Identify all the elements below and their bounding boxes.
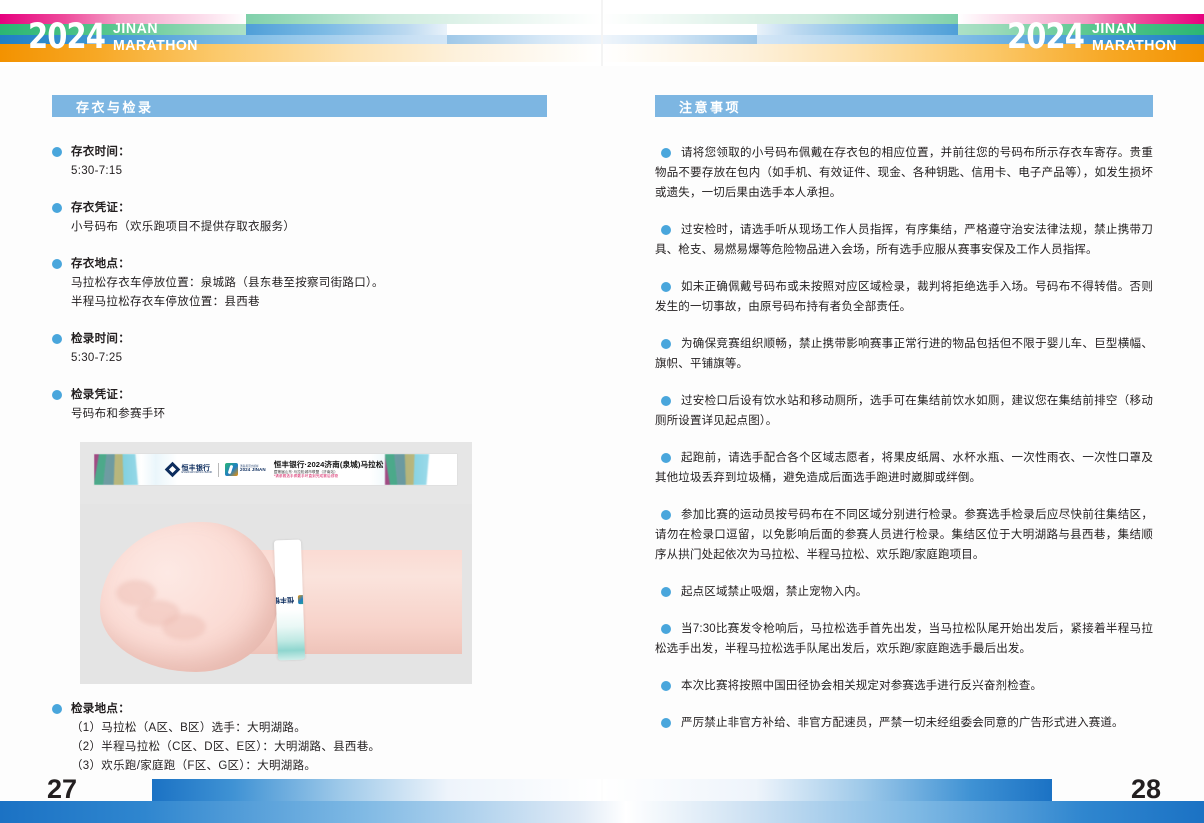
worn-wristband: 2024 JINAN 恒丰银行	[274, 540, 305, 661]
list-item: 存衣时间： 5:30-7:15	[52, 143, 547, 181]
list-item-body: 检录凭证： 号码布和参赛手环	[71, 386, 165, 424]
list-item-heading: 检录时间：	[71, 330, 130, 349]
bullet-dot-icon	[52, 147, 62, 157]
list-item-heading: 存衣时间：	[71, 143, 130, 162]
list-item: 检录凭证： 号码布和参赛手环	[52, 386, 547, 424]
banner-strip-green-left-upper	[246, 14, 602, 24]
list-item: 检录地点： （1）马拉松（A区、B区）选手：大明湖路。 （2）半程马拉松（C区、…	[52, 700, 547, 776]
logo-event-right: MARATHON	[1092, 37, 1177, 54]
notice-text: 本次比赛将按照中国田径协会相关规定对参赛选手进行反兴奋剂检查。	[655, 676, 1153, 696]
bullet-dot-icon	[52, 259, 62, 269]
list-item-line: 半程马拉松存衣车停放位置：县西巷	[71, 293, 384, 312]
notice-text: 过安检时，请选手听从现场工作人员指挥，有序集结，严格遵守治安法律法规，禁止携带刀…	[655, 220, 1153, 260]
event-emblem: 济南黄河大桥杯 2024 JINAN	[225, 463, 266, 476]
emblem-line-2: 2024 JINAN	[240, 468, 266, 473]
bullet-dot-icon	[661, 718, 671, 728]
bullet-dot-icon	[661, 282, 671, 292]
notice-text: 当7:30比赛发令枪响后，马拉松选手首先出发，当马拉松队尾开始出发后，紧接着半程…	[655, 619, 1153, 659]
knuckles	[114, 574, 234, 640]
notice-paragraph: 起跑前，请选手配合各个区域志愿者，将果皮纸屑、水杯水瓶、一次性雨衣、一次性口罩及…	[655, 448, 1153, 488]
list-item-body: 检录时间： 5:30-7:25	[71, 330, 130, 368]
list-item-line: 号码布和参赛手环	[71, 405, 165, 424]
bullet-dot-icon	[52, 203, 62, 213]
notice-text: 请将您领取的小号码布佩戴在存衣包的相应位置，并前往您的号码布所示存衣车寄存。贵重…	[655, 143, 1153, 203]
list-item: 存衣凭证： 小号码布（欢乐跑项目不提供存取衣服务）	[52, 199, 547, 237]
top-banner: 2024 JINAN MARATHON 2024 JINAN MARATHON	[0, 0, 1204, 66]
notice-paragraph: 如未正确佩戴号码布或未按照对应区域检录，裁判将拒绝选手入场。号码布不得转借。否则…	[655, 277, 1153, 317]
logo-year-left: 2024	[28, 20, 105, 55]
logo-year-right: 2024	[1007, 20, 1084, 55]
list-item-body: 存衣地点： 马拉松存衣车停放位置：泉城路（县东巷至按察司街路口）。 半程马拉松存…	[71, 255, 384, 312]
logo-city-right: JINAN	[1092, 21, 1177, 37]
bullet-dot-icon	[661, 510, 671, 520]
bank-diamond-icon	[165, 462, 181, 478]
notice-paragraph: 严厉禁止非官方补给、非官方配速员，严禁一切未经组委会同意的广告形式进入赛道。	[655, 713, 1153, 733]
banner-strip-blue-right-upper	[757, 24, 958, 35]
bullet-dot-icon	[661, 681, 671, 691]
bullet-dot-icon	[661, 453, 671, 463]
notice-paragraph: 参加比赛的运动员按号码布在不同区域分别进行检录。参赛选手检录后应尽快前往集结区，…	[655, 505, 1153, 565]
banner-strip-blue-left-fade	[447, 35, 602, 44]
bullet-dot-icon	[661, 339, 671, 349]
wristband-photo: 恒丰银行 EVERGROWING BANK 济南黄河大桥杯 2024 JINAN	[80, 442, 472, 684]
list-item-body: 存衣凭证： 小号码布（欢乐跑项目不提供存取衣服务）	[71, 199, 295, 237]
list-item-heading: 存衣凭证：	[71, 199, 295, 218]
footer-bar-left	[152, 779, 601, 801]
event-emblem-icon	[225, 463, 238, 476]
notice-paragraph: 本次比赛将按照中国田径协会相关规定对参赛选手进行反兴奋剂检查。	[655, 676, 1153, 696]
brochure-spread: 2024 JINAN MARATHON 2024 JINAN MARATHON …	[0, 0, 1204, 823]
notice-paragraph: 请将您领取的小号码布佩戴在存衣包的相应位置，并前往您的号码布所示存衣车寄存。贵重…	[655, 143, 1153, 203]
banner-strip-blue-right-fade	[602, 35, 757, 44]
bullet-dot-icon	[661, 148, 671, 158]
bullet-dot-icon	[661, 396, 671, 406]
list-item-line: （1）马拉松（A区、B区）选手：大明湖路。	[71, 719, 380, 738]
logo-city-left: JINAN	[113, 21, 198, 37]
logo-event-left: MARATHON	[113, 37, 198, 54]
list-item: 检录时间： 5:30-7:25	[52, 330, 547, 368]
right-section-header: 注意事项	[655, 95, 1153, 117]
notice-paragraph: 为确保竞赛组织顺畅，禁止携带影响赛事正常行进的物品包括但不限于婴儿车、巨型横幅、…	[655, 334, 1153, 374]
wristband-note: *请参赛选手佩戴手环直到完成赛后领物	[274, 474, 384, 478]
event-logo-right: 2024 JINAN MARATHON	[1007, 20, 1182, 55]
list-item-heading: 检录凭证：	[71, 386, 165, 405]
notice-paragraph: 过安检口后设有饮水站和移动厕所，选手可在集结前饮水如厕，建议您在集结前排空（移动…	[655, 391, 1153, 431]
bullet-dot-icon	[52, 390, 62, 400]
bullet-dot-icon	[661, 587, 671, 597]
list-item-line: 5:30-7:15	[71, 162, 130, 181]
footer-bar-right	[603, 779, 1052, 801]
worn-wristband-bank: 恒丰银行	[274, 595, 294, 606]
notice-text: 起跑前，请选手配合各个区域志愿者，将果皮纸屑、水杯水瓶、一次性雨衣、一次性口罩及…	[655, 448, 1153, 488]
left-page-column: 存衣与检录 存衣时间： 5:30-7:15 存衣凭证： 小号码布（欢乐跑项目不提…	[52, 95, 547, 794]
list-item: 存衣地点： 马拉松存衣车停放位置：泉城路（县东巷至按察司街路口）。 半程马拉松存…	[52, 255, 547, 312]
wristband-flat: 恒丰银行 EVERGROWING BANK 济南黄河大桥杯 2024 JINAN	[94, 454, 457, 485]
notice-text: 如未正确佩戴号码布或未按照对应区域检录，裁判将拒绝选手入场。号码布不得转借。否则…	[655, 277, 1153, 317]
event-logo-left: 2024 JINAN MARATHON	[28, 20, 203, 55]
bullet-dot-icon	[661, 225, 671, 235]
bullet-dot-icon	[52, 334, 62, 344]
right-section-title: 注意事项	[679, 97, 741, 116]
list-item-line: （2）半程马拉松（C区、D区、E区）：大明湖路、县西巷。	[71, 738, 380, 757]
list-item-body: 存衣时间： 5:30-7:15	[71, 143, 130, 181]
list-item-line: 马拉松存衣车停放位置：泉城路（县东巷至按察司街路口）。	[71, 274, 384, 293]
hand-photo-area: 2024 JINAN 恒丰银行	[80, 504, 472, 684]
notice-text: 严厉禁止非官方补给、非官方配速员，严禁一切未经组委会同意的广告形式进入赛道。	[655, 713, 1153, 733]
divider	[218, 463, 219, 477]
notice-text: 为确保竞赛组织顺畅，禁止携带影响赛事正常行进的物品包括但不限于婴儿车、巨型横幅、…	[655, 334, 1153, 374]
page-number-right: 28	[1131, 777, 1161, 801]
list-item-heading: 存衣地点：	[71, 255, 384, 274]
list-item-heading: 检录地点：	[71, 700, 380, 719]
bank-logo: 恒丰银行 EVERGROWING BANK	[167, 464, 212, 475]
list-item-body: 检录地点： （1）马拉松（A区、B区）选手：大明湖路。 （2）半程马拉松（C区、…	[71, 700, 380, 776]
right-page-column: 注意事项 请将您领取的小号码布佩戴在存衣包的相应位置，并前往您的号码布所示存衣车…	[655, 95, 1153, 750]
notice-text: 过安检口后设有饮水站和移动厕所，选手可在集结前饮水如厕，建议您在集结前排空（移动…	[655, 391, 1153, 431]
notice-text: 起点区域禁止吸烟，禁止宠物入内。	[655, 582, 1153, 602]
bullet-dot-icon	[661, 624, 671, 634]
notice-paragraph: 当7:30比赛发令枪响后，马拉松选手首先出发，当马拉松队尾开始出发后，紧接着半程…	[655, 619, 1153, 659]
page-seam	[601, 0, 603, 66]
list-item-line: 小号码布（欢乐跑项目不提供存取衣服务）	[71, 218, 295, 237]
left-section-title: 存衣与检录	[76, 97, 154, 116]
banner-strip-green-right-upper	[602, 14, 958, 24]
page-number-left: 27	[47, 777, 77, 801]
footer: 27 28	[0, 767, 1204, 823]
notice-paragraph: 起点区域禁止吸烟，禁止宠物入内。	[655, 582, 1153, 602]
list-item-line: 5:30-7:25	[71, 349, 130, 368]
bullet-dot-icon	[52, 704, 62, 714]
worn-wristband-content: 2024 JINAN 恒丰银行	[274, 584, 305, 615]
banner-strip-blue-left-upper	[246, 24, 447, 35]
notice-paragraph: 过安检时，请选手听从现场工作人员指挥，有序集结，严格遵守治安法律法规，禁止携带刀…	[655, 220, 1153, 260]
left-section-header: 存衣与检录	[52, 95, 547, 117]
bank-name-en: EVERGROWING BANK	[181, 472, 212, 474]
wristband-title: 恒丰银行·2024济南(泉城)马拉松	[274, 461, 384, 470]
wristband-flat-content: 恒丰银行 EVERGROWING BANK 济南黄河大桥杯 2024 JINAN	[166, 454, 385, 485]
footer-bar-bottom	[0, 801, 1204, 823]
notice-text: 参加比赛的运动员按号码布在不同区域分别进行检录。参赛选手检录后应尽快前往集结区，…	[655, 505, 1153, 565]
